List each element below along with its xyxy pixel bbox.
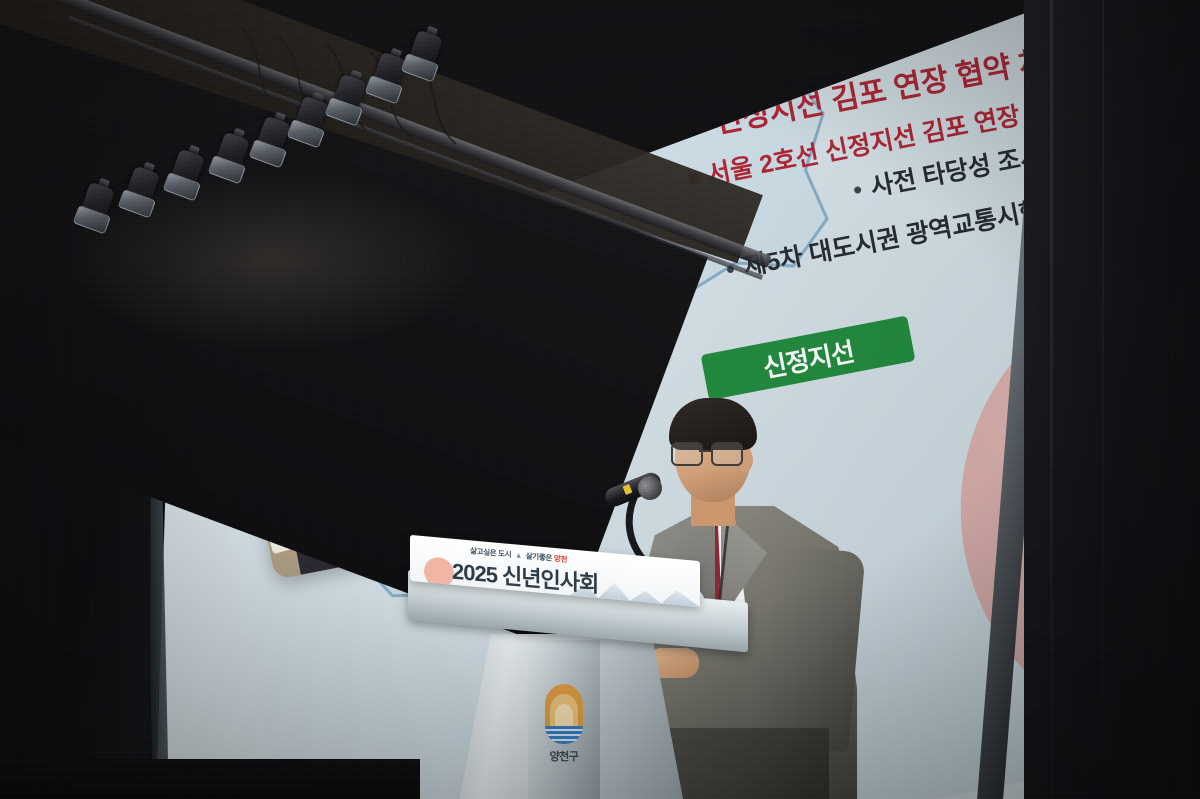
stage-floor-shadow xyxy=(0,759,420,799)
podium: 살고싶은 도시 ▲ 살기좋은 양천 2025 신년인사회 양천구 xyxy=(408,548,748,799)
speaker-glasses xyxy=(671,442,743,464)
emblem-arc-icon xyxy=(545,684,583,726)
emblem-label: 양천구 xyxy=(536,748,592,764)
emblem-wave-icon xyxy=(545,726,583,744)
dot-bullet-icon xyxy=(854,186,862,194)
stage-curtain xyxy=(1024,0,1200,799)
yangcheon-emblem: 양천구 xyxy=(536,684,592,758)
stage-scene: 신월사거리역 신설 신정차량기지 이전 신정지선 김포 연장 협약 체결 서울 … xyxy=(0,0,1200,799)
speaker-sleeve xyxy=(744,544,865,752)
